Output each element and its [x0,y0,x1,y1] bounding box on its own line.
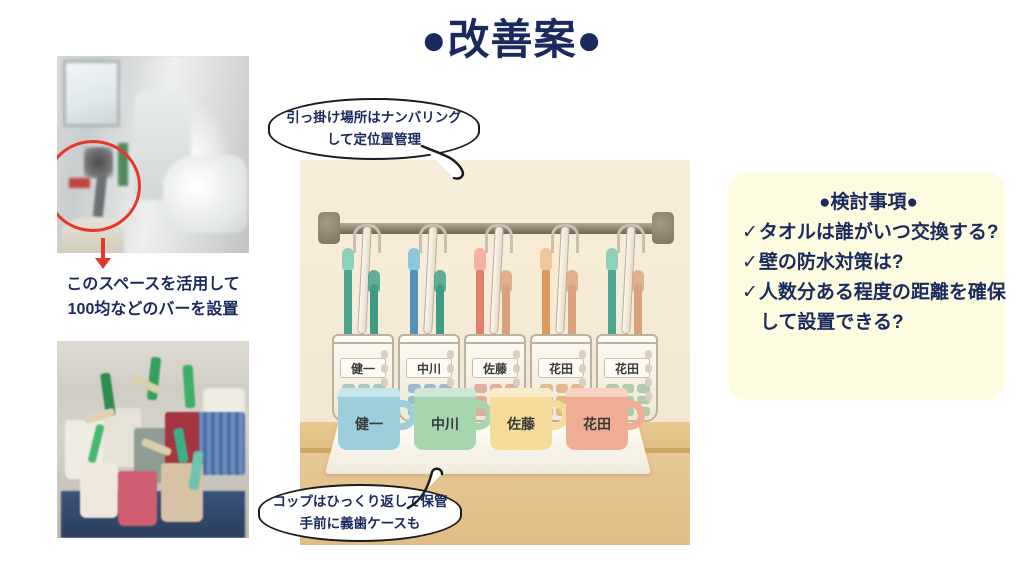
note-item-text: 壁の防水対策は? [759,252,904,273]
speech-bubble-bottom-tail-icon [398,464,468,514]
note-title: ●検討事項● [742,188,995,218]
check-icon: ✓ [742,282,758,303]
bubble-top-line2: して定位置管理 [327,129,421,151]
toothbrush-secondary-head-icon [632,270,644,292]
toothbrush-secondary-head-icon [500,270,512,292]
speech-bubble-top-tail-icon [418,140,488,186]
basket-rim-icon [332,334,394,344]
bathroom-before-photo [57,56,249,253]
cup-region [80,463,118,518]
toothbrush-head-icon [408,248,420,270]
window-region [63,60,121,127]
note-item: ✓人数分ある程度の距離を確保 [742,278,995,308]
considerations-note: ●検討事項● ✓タオルは誰がいつ交換する? ✓壁の防水対策は? ✓人数分ある程度… [728,172,1005,400]
basket-rim-icon [596,334,658,344]
cup-rim-icon [566,388,628,397]
photo-caption-line2: 100均などのバーを設置 [45,297,261,322]
check-icon: ✓ [742,222,758,243]
check-icon: ✓ [742,252,758,273]
basket-name-tag: 佐藤 [472,358,518,378]
bubble-bottom-line2: 手前に義歯ケースも [300,513,421,535]
cluttered-toothbrush-cups-photo [57,341,249,538]
red-arrow-head-icon [95,258,111,269]
toothbrush-head-icon [606,248,618,270]
cup-rim-icon [338,388,400,397]
cup-name-label: 健一 [338,414,400,434]
note-item: ✓壁の防水対策は? [742,248,995,278]
basket-name-tag: 花田 [538,358,584,378]
photo-caption-line1: このスペースを活用して [45,272,261,297]
toothbrush-secondary-head-icon [368,270,380,292]
cup-region [118,471,156,526]
toothbrush-head-icon [540,248,552,270]
slide-canvas: ●改善案● このスペースを活用して 100均などのバーを設置 [0,0,1024,576]
note-item-text: 人数分ある程度の距離を確保 [759,282,1006,303]
photo-caption: このスペースを活用して 100均などのバーを設置 [45,272,261,322]
cup: 佐藤 [490,388,552,450]
basket-side-slots-icon [645,350,652,414]
toothbrush-secondary-head-icon [566,270,578,292]
toothbrush-head-icon [342,248,354,270]
sink-region [163,155,247,234]
toothbrush-head-icon [474,248,486,270]
basket-rim-icon [398,334,460,344]
cup-name-label: 佐藤 [490,414,552,434]
cup-name-label: 中川 [414,414,476,434]
basket-rim-icon [464,334,526,344]
basket-rim-icon [530,334,592,344]
bubble-top-line1: 引っ掛け場所はナンバリング [286,107,462,129]
note-item-text: タオルは誰がいつ交換する? [759,222,999,243]
basket-name-tag: 健一 [340,358,386,378]
basket-name-tag: 花田 [604,358,650,378]
cup: 花田 [566,388,628,450]
photo-content [57,341,249,538]
note-item: ✓タオルは誰がいつ交換する? [742,218,995,248]
note-item-continuation: して設置できる? [742,308,995,338]
cup-name-label: 花田 [566,414,628,434]
basket-name-tag: 中川 [406,358,452,378]
cup: 健一 [338,388,400,450]
cup-rim-icon [490,388,552,397]
cup-rim-icon [414,388,476,397]
toothbrush-secondary-head-icon [434,270,446,292]
cup: 中川 [414,388,476,450]
